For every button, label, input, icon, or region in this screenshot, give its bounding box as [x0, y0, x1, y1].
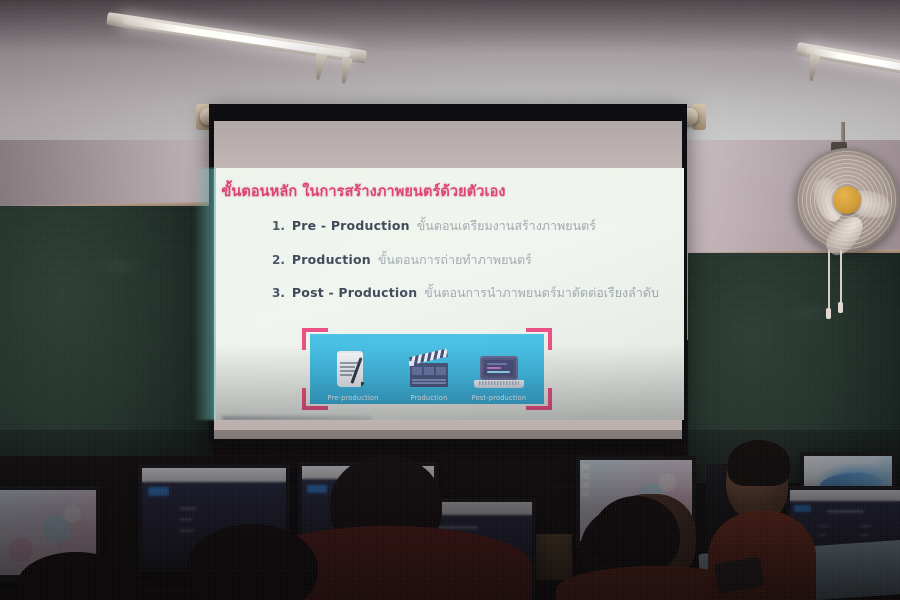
- fan-pull-weight[interactable]: [838, 302, 843, 313]
- clapperboard-icon: [401, 351, 457, 391]
- list-number: 1.: [272, 219, 285, 233]
- fan-pull-cord[interactable]: [840, 250, 842, 304]
- stage-label: Post-production: [472, 394, 527, 402]
- clapper-hinge: [409, 361, 414, 366]
- chalkboard-left: [0, 206, 212, 456]
- clapper-panel: [424, 367, 434, 375]
- slide-footnote: [222, 416, 372, 420]
- slide-list-item: 1. Pre - Production ขั้นตอนเตรียมงานสร้า…: [272, 216, 684, 236]
- clapper-bar: [412, 382, 446, 384]
- slide-list-item: 3. Post - Production ขั้นตอนการนำภาพยนตร…: [272, 283, 684, 303]
- slide-list-item: 2. Production ขั้นตอนการถ่ายทำภาพยนตร์: [272, 250, 684, 270]
- laptop-lid: [480, 356, 518, 380]
- timeline-bar: [487, 367, 501, 369]
- list-number: 3.: [272, 286, 285, 300]
- wall-fan[interactable]: [795, 148, 899, 252]
- laptop-icon: [471, 351, 527, 391]
- list-desc-th: ขั้นตอนการนำภาพยนตร์มาตัดต่อเรียงลำดับ: [424, 283, 659, 303]
- timeline-bar: [487, 371, 510, 373]
- paper-line: [340, 366, 355, 368]
- fan-pull-cord[interactable]: [828, 250, 830, 310]
- fan-pull-weight[interactable]: [826, 308, 831, 319]
- list-term-en: Post - Production: [292, 285, 417, 300]
- production-stages-diagram: Pre-production Production: [302, 328, 552, 410]
- clapper-panel: [436, 367, 446, 375]
- list-desc-th: ขั้นตอนการถ่ายทำภาพยนตร์: [378, 250, 532, 270]
- timeline-bar: [487, 363, 507, 365]
- list-term-en: Production: [292, 252, 371, 267]
- desktop-icons[interactable]: [582, 464, 594, 500]
- stage-label: Pre-production: [327, 394, 378, 402]
- chalkboard-texture: [688, 253, 900, 483]
- list-term-en: Pre - Production: [292, 218, 410, 233]
- student-hair-front: [592, 496, 680, 576]
- paper-line: [340, 374, 352, 376]
- projected-slide: 3 ขั้นตอนหลัก ในการสร้างภาพยนตร์ด้วยตัวเ…: [216, 168, 684, 420]
- taskbar-icons[interactable]: [0, 538, 4, 565]
- stage-post-production: Post-production: [462, 336, 536, 402]
- slide-list: 1. Pre - Production ขั้นตอนเตรียมงานสร้า…: [272, 216, 684, 317]
- script-pen-icon: [325, 351, 381, 391]
- stage-label: Production: [410, 394, 447, 402]
- laptop-screen: [484, 360, 514, 376]
- list-desc-th: ขั้นตอนเตรียมงานสร้างภาพยนตร์: [417, 216, 596, 236]
- stage-production: Production: [392, 336, 466, 402]
- laptop-keyboard: [479, 381, 519, 385]
- projector-light-spill: [193, 168, 217, 420]
- list-number: 2.: [272, 253, 285, 267]
- fan-hub: [833, 186, 861, 214]
- paper-line: [340, 362, 359, 364]
- stage-pre-production: Pre-production: [316, 336, 390, 402]
- classroom-photo: VERTEX 3 ขั้นตอนหลัก ในการสร้างภาพยนตร์ด…: [0, 0, 900, 600]
- slide-title: 3 ขั้นตอนหลัก ในการสร้างภาพยนตร์ด้วยตัวเ…: [216, 180, 676, 203]
- clapper-panel: [412, 367, 422, 375]
- chalkboard-right: [688, 253, 900, 483]
- clapper-bar: [412, 379, 446, 381]
- student-hair-right: [728, 440, 790, 486]
